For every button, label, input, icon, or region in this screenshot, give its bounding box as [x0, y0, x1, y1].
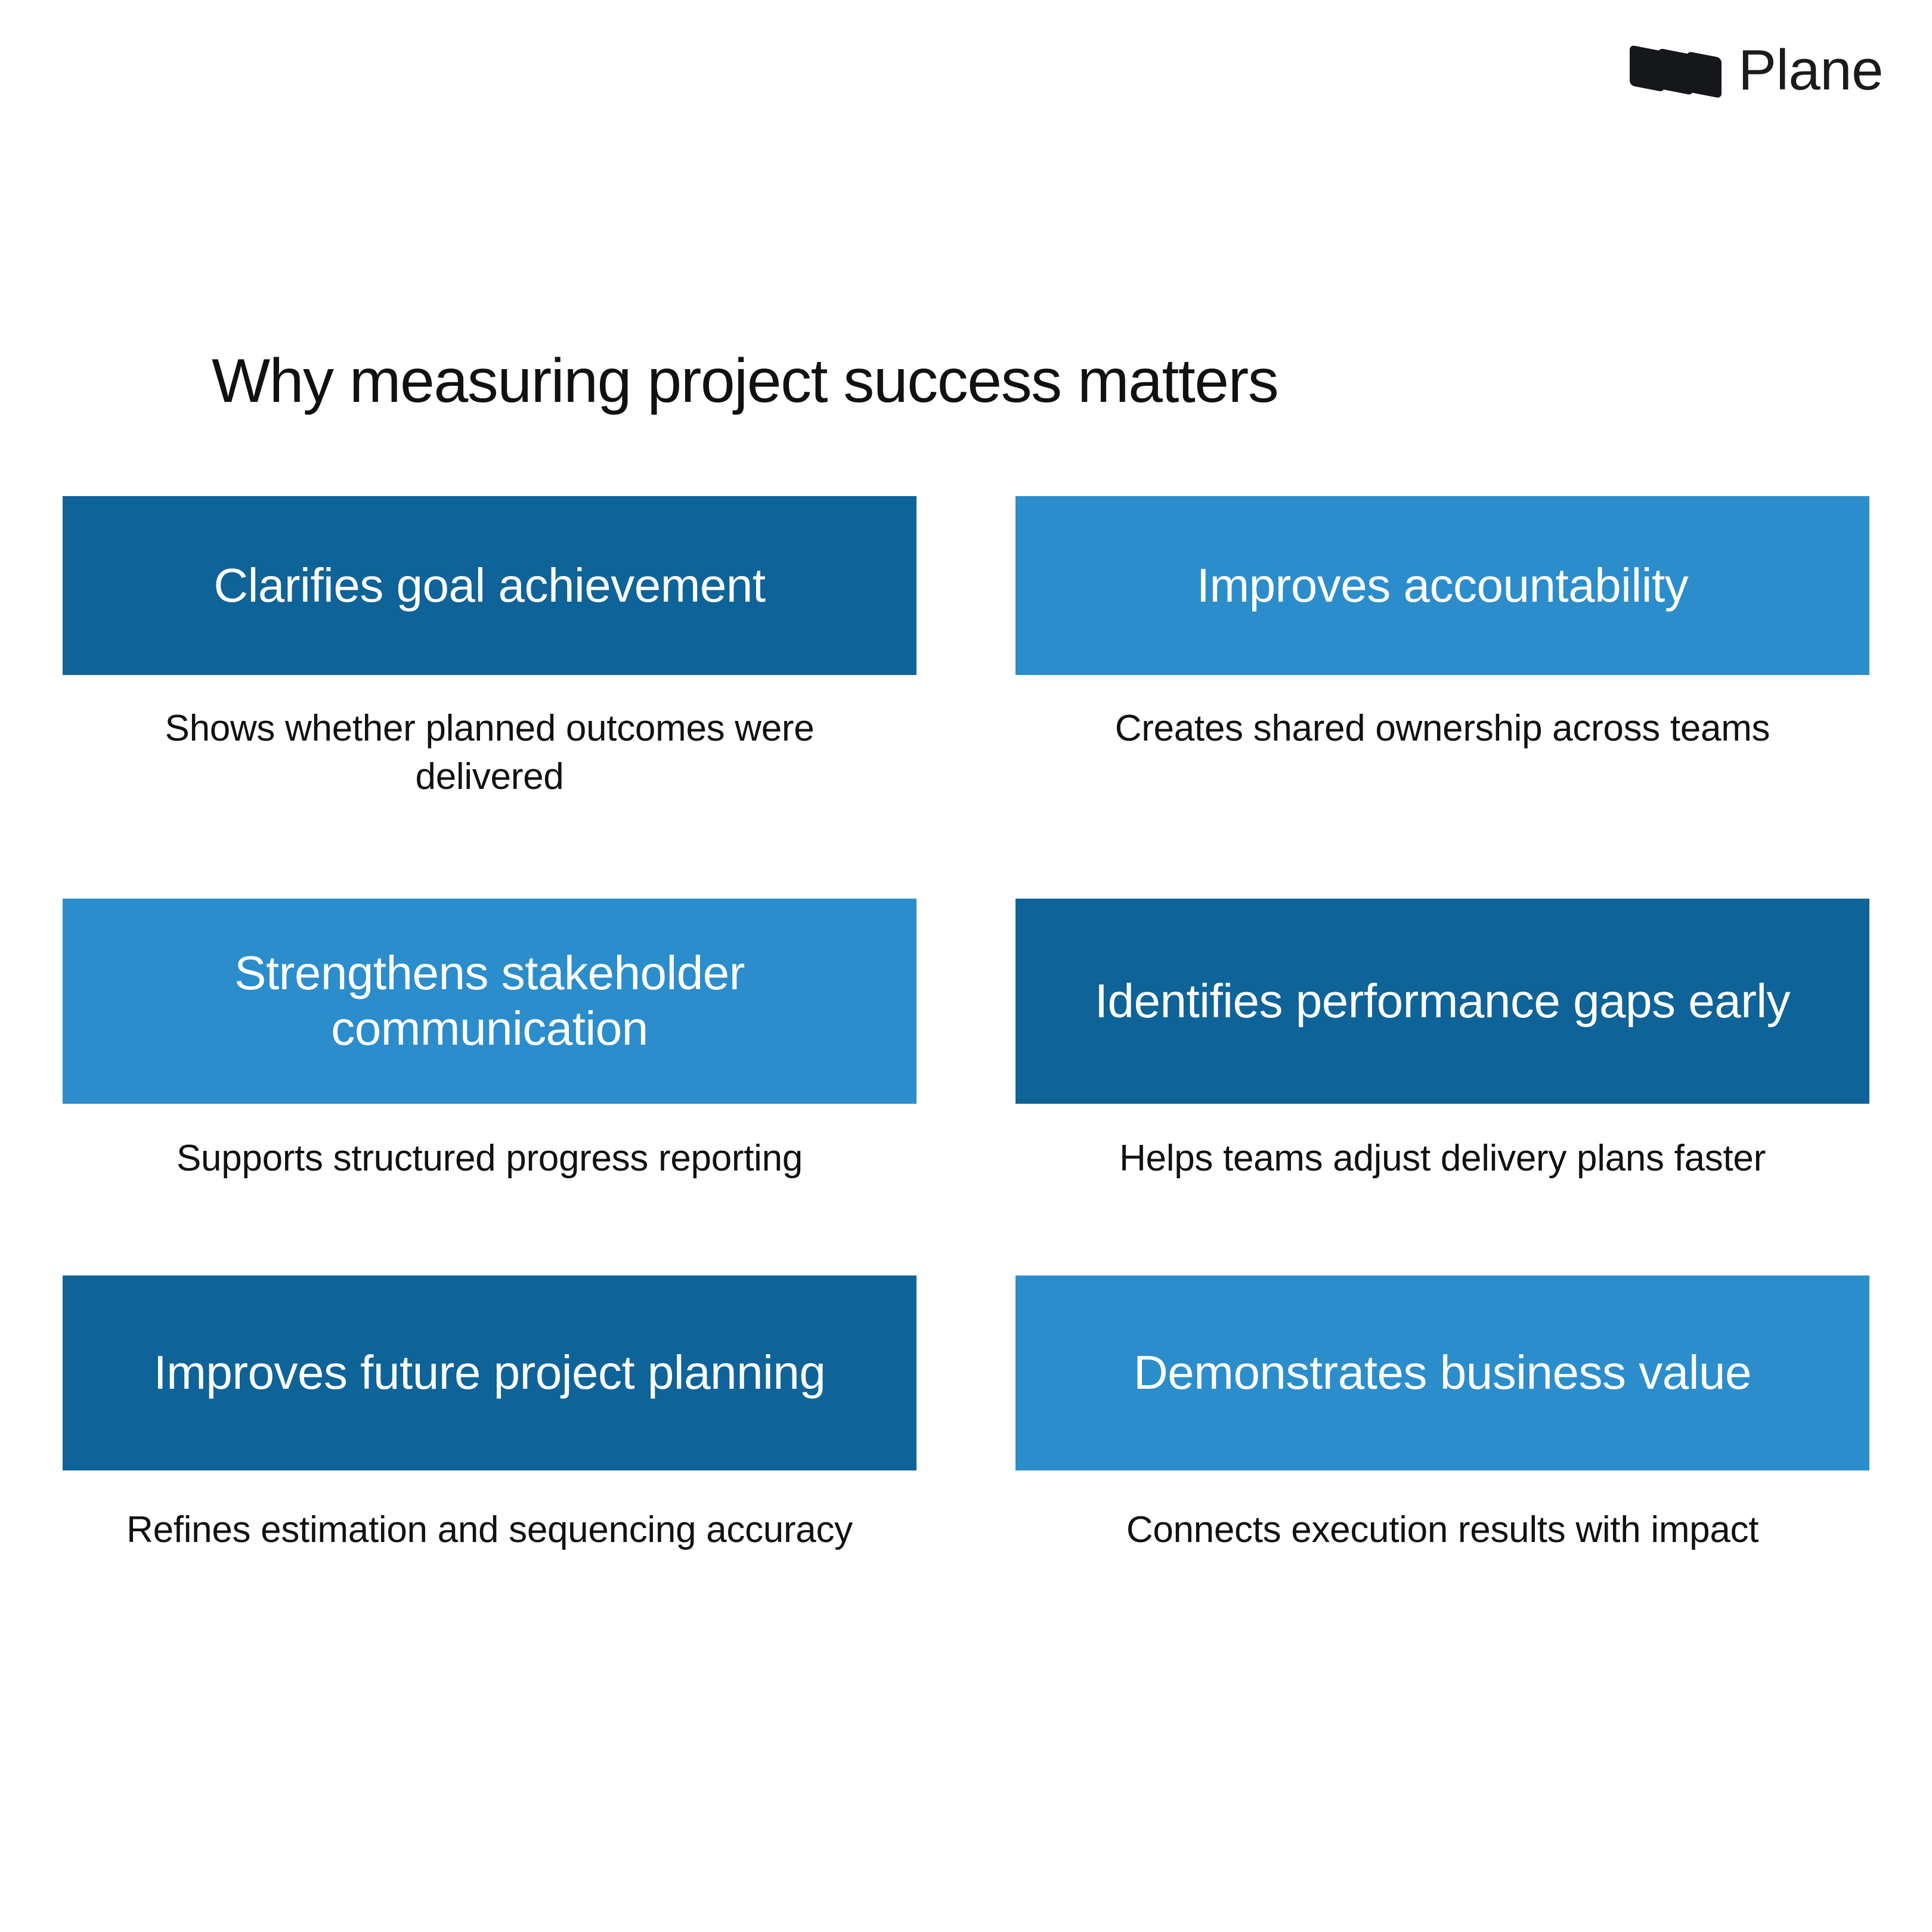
card-caption: Creates shared ownership across teams: [1015, 705, 1869, 753]
row-spacer: [1015, 801, 1869, 899]
plane-logo-icon: [1626, 39, 1722, 101]
brand-name: Plane: [1738, 42, 1883, 99]
row-spacer: [63, 1183, 917, 1275]
card-banner: Clarifies goal achievement: [63, 496, 917, 675]
brand-logo: Plane: [1626, 35, 1883, 106]
page-title: Why measuring project success matters: [212, 346, 1726, 417]
benefit-card-identifies-performance-gaps-early: Identifies performance gaps early Helps …: [1015, 899, 1869, 1183]
infographic-canvas: Plane Why measuring project success matt…: [0, 0, 1932, 1932]
card-banner: Demonstrates business value: [1015, 1275, 1869, 1470]
row-spacer: [1015, 1183, 1869, 1275]
card-title: Identifies performance gaps early: [1095, 974, 1790, 1029]
benefit-card-improves-accountability: Improves accountability Creates shared o…: [1015, 496, 1869, 801]
benefit-card-improves-future-project-planning: Improves future project planning Refines…: [63, 1275, 917, 1555]
card-banner: Strengthens stakeholder communication: [63, 899, 917, 1104]
card-title: Improves accountability: [1197, 558, 1688, 614]
card-title: Demonstrates business value: [1134, 1345, 1751, 1401]
card-banner: Identifies performance gaps early: [1015, 899, 1869, 1104]
benefit-card-demonstrates-business-value: Demonstrates business value Connects exe…: [1015, 1275, 1869, 1555]
card-title: Clarifies goal achievement: [213, 558, 765, 614]
card-banner: Improves accountability: [1015, 496, 1869, 675]
card-title: Strengthens stakeholder communication: [86, 946, 893, 1057]
card-caption: Shows whether planned outcomes were deli…: [63, 705, 917, 801]
card-caption: Helps teams adjust delivery plans faster: [1015, 1135, 1869, 1183]
card-caption: Refines estimation and sequencing accura…: [63, 1506, 917, 1555]
benefit-card-strengthens-stakeholder-communication: Strengthens stakeholder communication Su…: [63, 899, 917, 1183]
card-title: Improves future project planning: [154, 1345, 826, 1401]
row-spacer: [63, 801, 917, 899]
benefit-card-clarifies-goal-achievement: Clarifies goal achievement Shows whether…: [63, 496, 917, 801]
benefits-grid: Clarifies goal achievement Shows whether…: [63, 496, 1869, 1554]
card-caption: Supports structured progress reporting: [63, 1135, 917, 1183]
card-banner: Improves future project planning: [63, 1275, 917, 1470]
card-caption: Connects execution results with impact: [1015, 1506, 1869, 1555]
